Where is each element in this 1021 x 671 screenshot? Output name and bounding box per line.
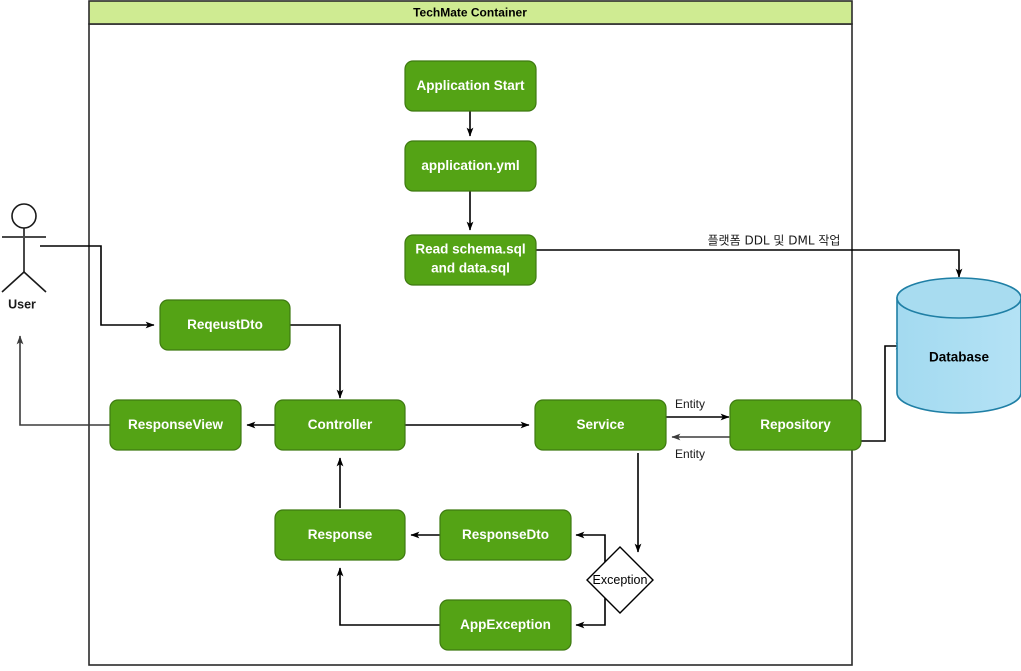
node-repository[interactable]: Repository [730, 400, 861, 450]
database-cylinder-top [897, 278, 1021, 318]
node-response-dto[interactable]: ResponseDto [440, 510, 571, 560]
node-request-dto-label: ReqeustDto [187, 317, 263, 332]
node-application-yml-label: application.yml [421, 158, 519, 173]
node-response[interactable]: Response [275, 510, 405, 560]
node-repository-label: Repository [760, 417, 831, 432]
user-label: User [8, 297, 36, 311]
node-app-exception[interactable]: AppException [440, 600, 571, 650]
edge-label-entity-in: Entity [675, 447, 705, 461]
user-leg-left-icon [2, 272, 24, 292]
edge-label-entity-out: Entity [675, 397, 705, 411]
node-database-label: Database [929, 350, 990, 365]
node-read-schema[interactable]: Read schema.sql and data.sql [405, 235, 536, 285]
node-service-label: Service [576, 417, 625, 432]
container-title: TechMate Container [413, 6, 527, 20]
node-response-view[interactable]: ResponseView [110, 400, 241, 450]
actor-user: User [2, 204, 46, 311]
architecture-diagram: TechMate Container 플랫폼 DDL 및 DML 작업 Enti [0, 0, 1021, 671]
node-app-exception-label: AppException [460, 617, 551, 632]
node-read-schema-label-line2: and data.sql [431, 261, 510, 276]
node-request-dto[interactable]: ReqeustDto [160, 300, 290, 350]
node-read-schema-label-line1: Read schema.sql [415, 242, 525, 257]
node-response-dto-label: ResponseDto [462, 527, 549, 542]
node-controller-label: Controller [308, 417, 373, 432]
edge-label-ddl-dml: 플랫폼 DDL 및 DML 작업 [708, 234, 841, 248]
node-response-label: Response [308, 527, 373, 542]
node-service[interactable]: Service [535, 400, 666, 450]
node-database[interactable]: Database [897, 278, 1021, 413]
user-leg-right-icon [24, 272, 46, 292]
node-response-view-label: ResponseView [128, 417, 224, 432]
user-head-icon [12, 204, 36, 228]
node-controller[interactable]: Controller [275, 400, 405, 450]
diagram-canvas: TechMate Container 플랫폼 DDL 및 DML 작업 Enti [0, 0, 1021, 671]
node-application-start-label: Application Start [416, 78, 525, 93]
node-application-start[interactable]: Application Start [405, 61, 536, 111]
node-exception-decision-label: Exception [593, 573, 648, 587]
node-application-yml[interactable]: application.yml [405, 141, 536, 191]
